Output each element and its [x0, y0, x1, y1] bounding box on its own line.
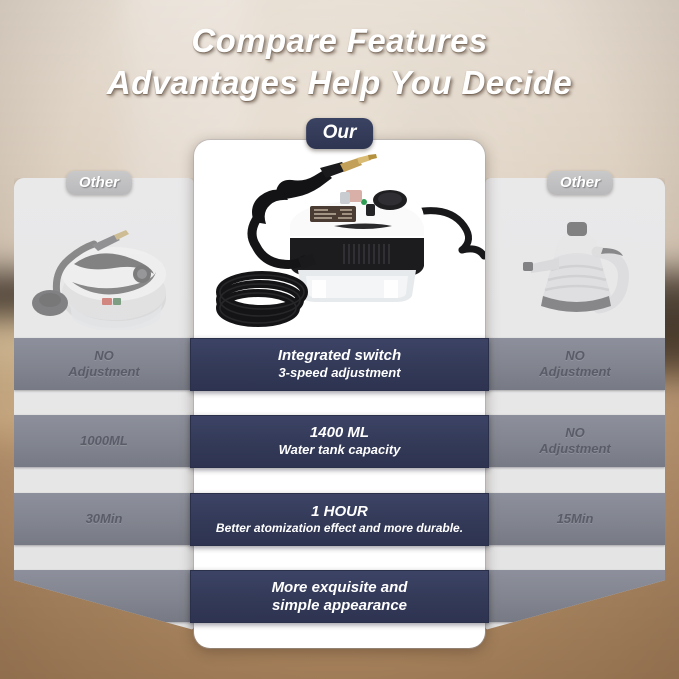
our-cell-2-line-1: 1400 ML: [310, 424, 369, 442]
competitor-left-cell-3: 30Min: [14, 493, 194, 545]
competitor-left-panel: NO Adjustment 1000ML 30Min: [14, 178, 194, 630]
gray-handheld-kettle-steamer-icon: [485, 200, 665, 330]
badge-other-left: Other: [66, 171, 132, 195]
our-cell-4-line-1: More exquisite and: [272, 579, 408, 597]
competitor-left-image-area: [14, 200, 194, 330]
competitor-right-cell-1: NO Adjustment: [485, 338, 665, 390]
competitor-left-cell-1: NO Adjustment: [14, 338, 194, 390]
our-cell-3: 1 HOUR Better atomization effect and mor…: [190, 493, 489, 546]
competitor-right-cell-3-line-1: 15Min: [557, 511, 594, 527]
our-cell-1-line-1: Integrated switch: [278, 347, 401, 365]
competitor-right-panel: NO Adjustment NO Adjustment 15Min: [485, 178, 665, 630]
competitor-left-cell-2: 1000ML: [14, 415, 194, 467]
our-cell-1: Integrated switch 3-speed adjustment: [190, 338, 489, 391]
our-cell-2-line-2: Water tank capacity: [279, 442, 401, 458]
competitor-left-cell-1-line-1: NO: [94, 348, 114, 363]
badge-other-right: Other: [547, 171, 613, 195]
competitor-left-cell-2-line-1: 1000ML: [80, 433, 128, 449]
badge-our: Our: [306, 118, 374, 149]
competitor-right-cell-2-line-2: Adjustment: [539, 441, 611, 456]
competitor-right-cell-1-line-2: Adjustment: [539, 364, 611, 379]
competitor-right-image-area: [485, 200, 665, 330]
competitor-right-cell-2: NO Adjustment: [485, 415, 665, 467]
our-cell-3-line-2: Better atomization effect and more durab…: [216, 521, 463, 536]
our-product-image-area: [194, 152, 485, 334]
our-cell-4: More exquisite and simple appearance: [190, 570, 489, 623]
our-cell-4-line-2: simple appearance: [272, 597, 407, 615]
our-cell-3-line-1: 1 HOUR: [311, 503, 368, 521]
competitor-right-cell-2-line-1: NO: [565, 425, 585, 440]
white-black-steam-cleaner-icon: [194, 152, 485, 334]
competitor-right-cell-3: 15Min: [485, 493, 665, 545]
competitor-left-cell-3-line-1: 30Min: [86, 511, 123, 527]
competitor-left-cell-1-line-2: Adjustment: [68, 364, 140, 379]
competitor-right-cell-1-line-1: NO: [565, 348, 585, 363]
gray-round-steam-cleaner-icon: [14, 200, 194, 330]
our-cell-1-line-2: 3-speed adjustment: [278, 365, 400, 381]
our-cell-2: 1400 ML Water tank capacity: [190, 415, 489, 468]
